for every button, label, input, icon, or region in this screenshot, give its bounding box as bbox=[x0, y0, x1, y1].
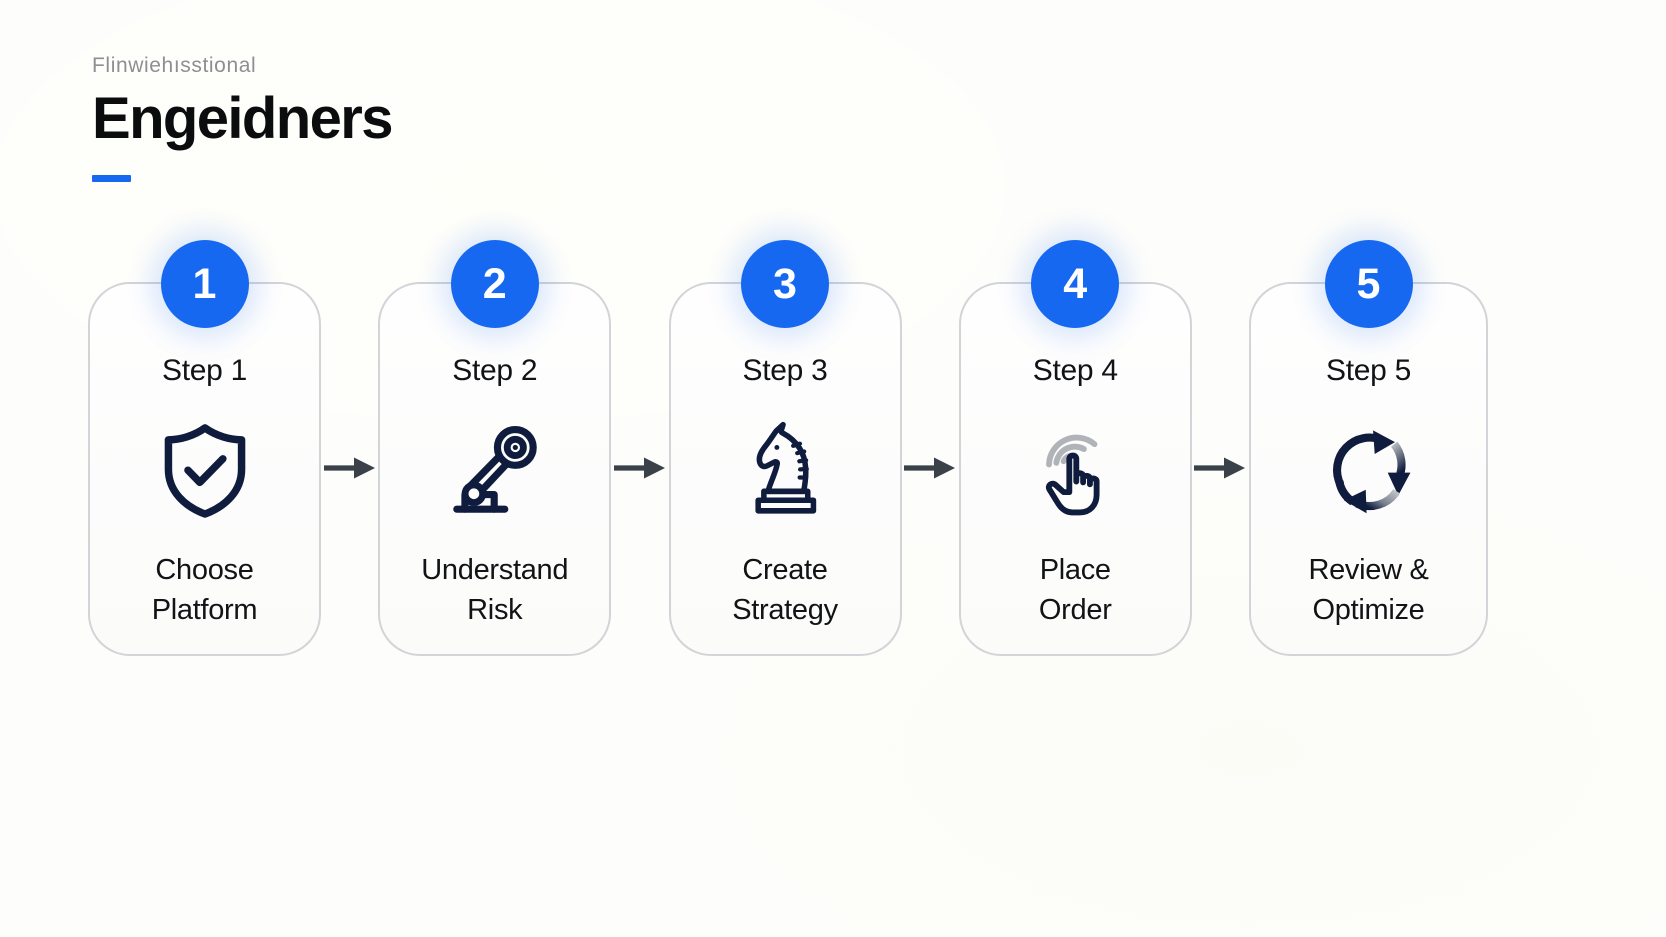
step-badge-number-5: 5 bbox=[1357, 263, 1381, 306]
step-label-1: Step 1 bbox=[162, 354, 247, 388]
eyebrow-text: Flinwiehısstional bbox=[92, 54, 392, 77]
step-label-5: Step 5 bbox=[1326, 354, 1411, 388]
step-badge-1: 1 bbox=[161, 240, 249, 328]
step-card-5[interactable]: 5 Step 5 bbox=[1249, 282, 1488, 656]
step-badge-2: 2 bbox=[451, 240, 539, 328]
step-label-3: Step 3 bbox=[743, 354, 828, 388]
step-label-2: Step 2 bbox=[452, 354, 537, 388]
step-label-4: Step 4 bbox=[1033, 354, 1118, 388]
page-header: Flinwiehısstional Engeidners bbox=[92, 54, 392, 182]
arrow-2-to-3 bbox=[611, 282, 668, 656]
step-badge-number-2: 2 bbox=[483, 263, 507, 306]
accent-bar bbox=[92, 175, 131, 182]
step-badge-5: 5 bbox=[1325, 240, 1413, 328]
arrow-1-to-2 bbox=[321, 282, 378, 656]
step-card-1[interactable]: 1 Step 1 Choose Platform bbox=[88, 282, 321, 656]
step-card-3[interactable]: 3 Step 3 bbox=[669, 282, 902, 656]
step-title-4: Place Order bbox=[1031, 550, 1120, 630]
step-card-4[interactable]: 4 Step 4 Place Order bbox=[959, 282, 1192, 656]
step-badge-number-3: 3 bbox=[773, 263, 797, 306]
step-card-2[interactable]: 2 Step 2 Understa bbox=[378, 282, 611, 656]
gauge-arm-icon bbox=[436, 412, 554, 530]
steps-row: 1 Step 1 Choose Platform 2 Step 2 bbox=[88, 282, 1488, 656]
step-title-5: Review & Optimize bbox=[1300, 550, 1436, 630]
chess-knight-icon bbox=[726, 412, 844, 530]
step-badge-4: 4 bbox=[1031, 240, 1119, 328]
step-badge-3: 3 bbox=[741, 240, 829, 328]
step-badge-number-1: 1 bbox=[193, 263, 217, 306]
step-badge-number-4: 4 bbox=[1063, 263, 1087, 306]
step-title-3: Create Strategy bbox=[724, 550, 846, 630]
page-title: Engeidners bbox=[92, 89, 392, 150]
shield-check-icon bbox=[146, 412, 264, 530]
infographic-page: Flinwiehısstional Engeidners 1 Step 1 Ch… bbox=[0, 0, 1666, 937]
step-title-2: Understand Risk bbox=[413, 550, 576, 630]
step-title-1: Choose Platform bbox=[144, 550, 266, 630]
refresh-cycle-icon bbox=[1310, 412, 1428, 530]
arrow-3-to-4 bbox=[902, 282, 959, 656]
arrow-4-to-5 bbox=[1192, 282, 1249, 656]
tap-gesture-icon bbox=[1016, 412, 1134, 530]
